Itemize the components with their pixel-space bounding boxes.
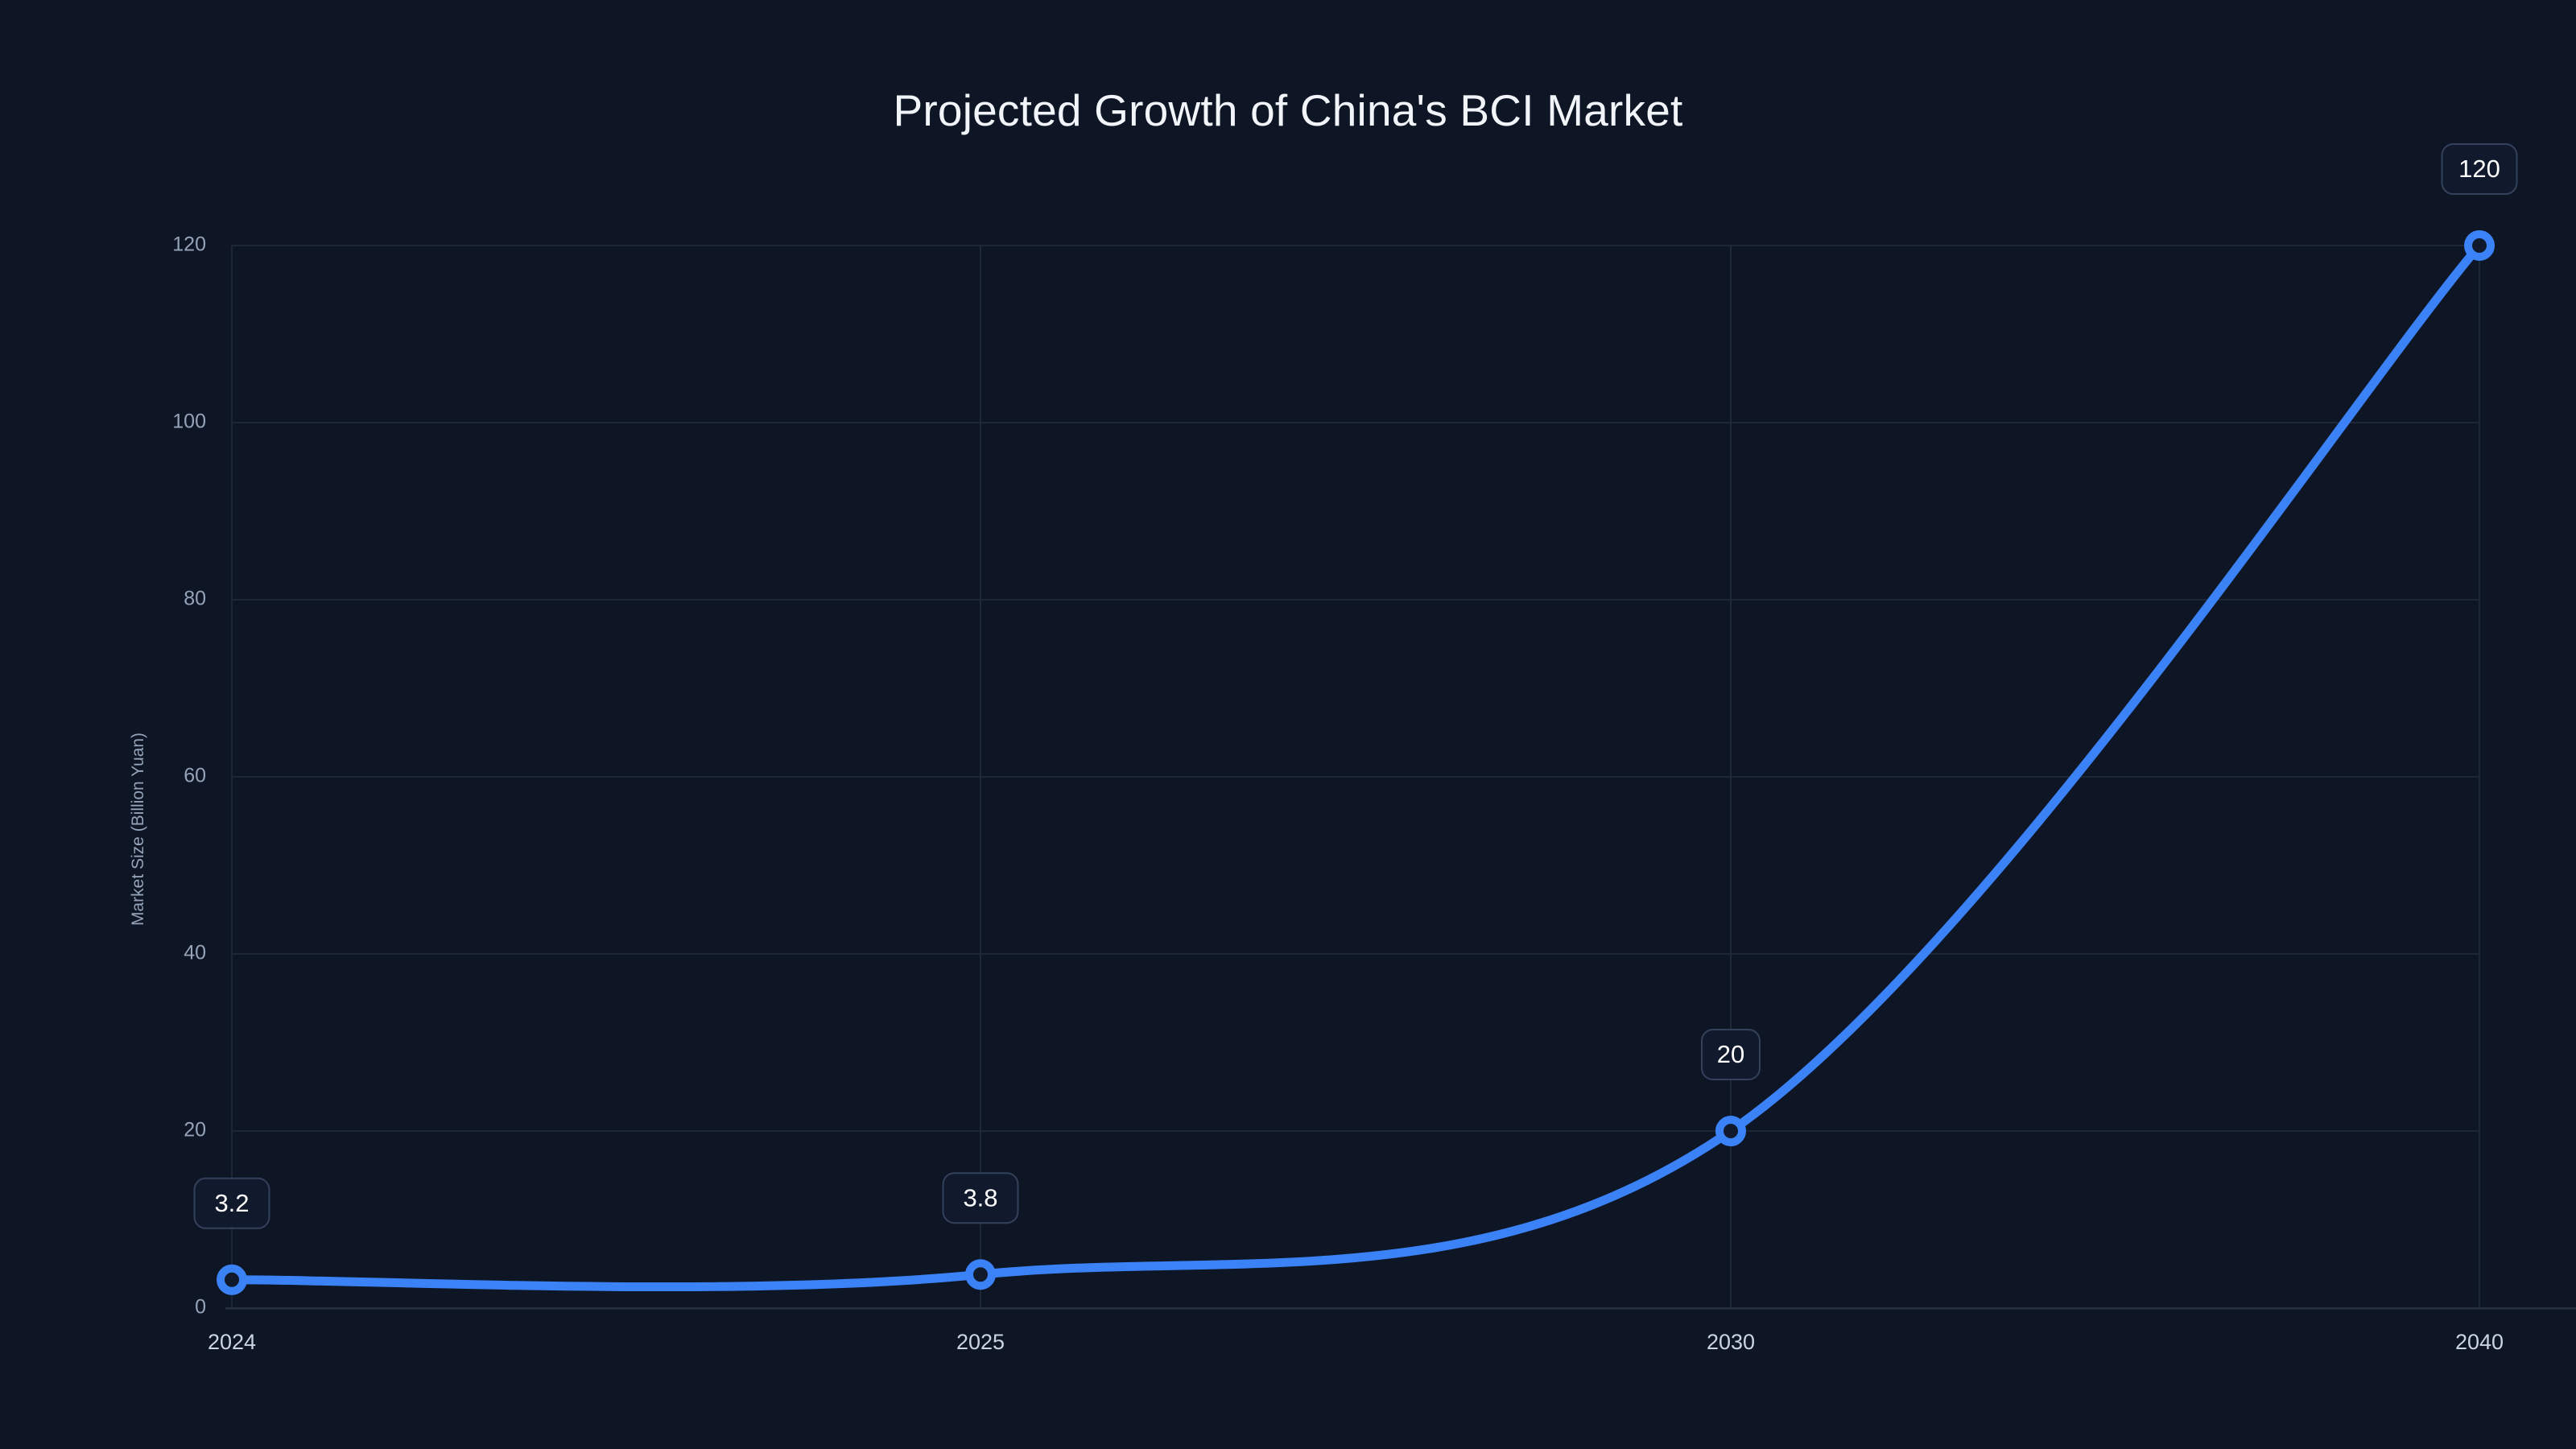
data-point-labels: 3.23.820120 xyxy=(195,144,2517,1228)
data-point-marker[interactable] xyxy=(221,1269,243,1291)
y-tick-label: 80 xyxy=(184,588,206,610)
data-point-marker[interactable] xyxy=(2468,234,2491,257)
badge-value-text: 20 xyxy=(1717,1040,1744,1068)
data-point-marker[interactable] xyxy=(1719,1120,1742,1142)
badge-value-text: 3.2 xyxy=(214,1189,249,1217)
line-chart-plot: 020406080100120 2024202520302040 3.23.82… xyxy=(0,0,2576,1449)
y-tick-label: 40 xyxy=(184,942,206,964)
y-tick-label: 20 xyxy=(184,1119,206,1141)
data-label-badge: 120 xyxy=(2442,144,2517,194)
data-point-marker[interactable] xyxy=(969,1263,992,1286)
badge-value-text: 120 xyxy=(2458,155,2500,183)
data-label-badge: 3.2 xyxy=(195,1179,270,1228)
x-axis-ticks: 2024202520302040 xyxy=(208,1330,2504,1354)
badge-value-text: 3.8 xyxy=(963,1183,997,1212)
y-tick-label: 100 xyxy=(172,411,206,433)
chart-container: Projected Growth of China's BCI Market M… xyxy=(0,0,2576,1449)
x-tick-label: 2040 xyxy=(2455,1330,2504,1354)
x-tick-label: 2024 xyxy=(208,1330,256,1354)
data-point-markers[interactable] xyxy=(221,234,2491,1291)
data-label-badge: 20 xyxy=(1702,1030,1760,1080)
data-label-badge: 3.8 xyxy=(943,1173,1018,1223)
x-tick-label: 2025 xyxy=(956,1330,1005,1354)
x-tick-label: 2030 xyxy=(1707,1330,1755,1354)
y-axis-ticks: 020406080100120 xyxy=(172,233,206,1319)
y-tick-label: 120 xyxy=(172,233,206,256)
y-tick-label: 60 xyxy=(184,765,206,787)
grid-horizontal xyxy=(232,246,2479,1308)
y-tick-label: 0 xyxy=(195,1296,206,1319)
